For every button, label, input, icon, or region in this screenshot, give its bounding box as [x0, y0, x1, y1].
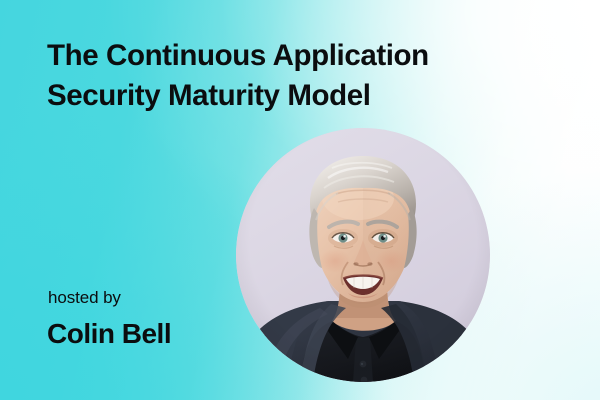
host-portrait-illustration — [236, 128, 490, 382]
webinar-promo-banner: The Continuous Application Security Matu… — [0, 0, 600, 400]
host-name: Colin Bell — [47, 318, 171, 350]
host-portrait — [236, 128, 490, 382]
page-title: The Continuous Application Security Matu… — [47, 36, 517, 116]
hosted-by-label: hosted by — [48, 288, 121, 308]
